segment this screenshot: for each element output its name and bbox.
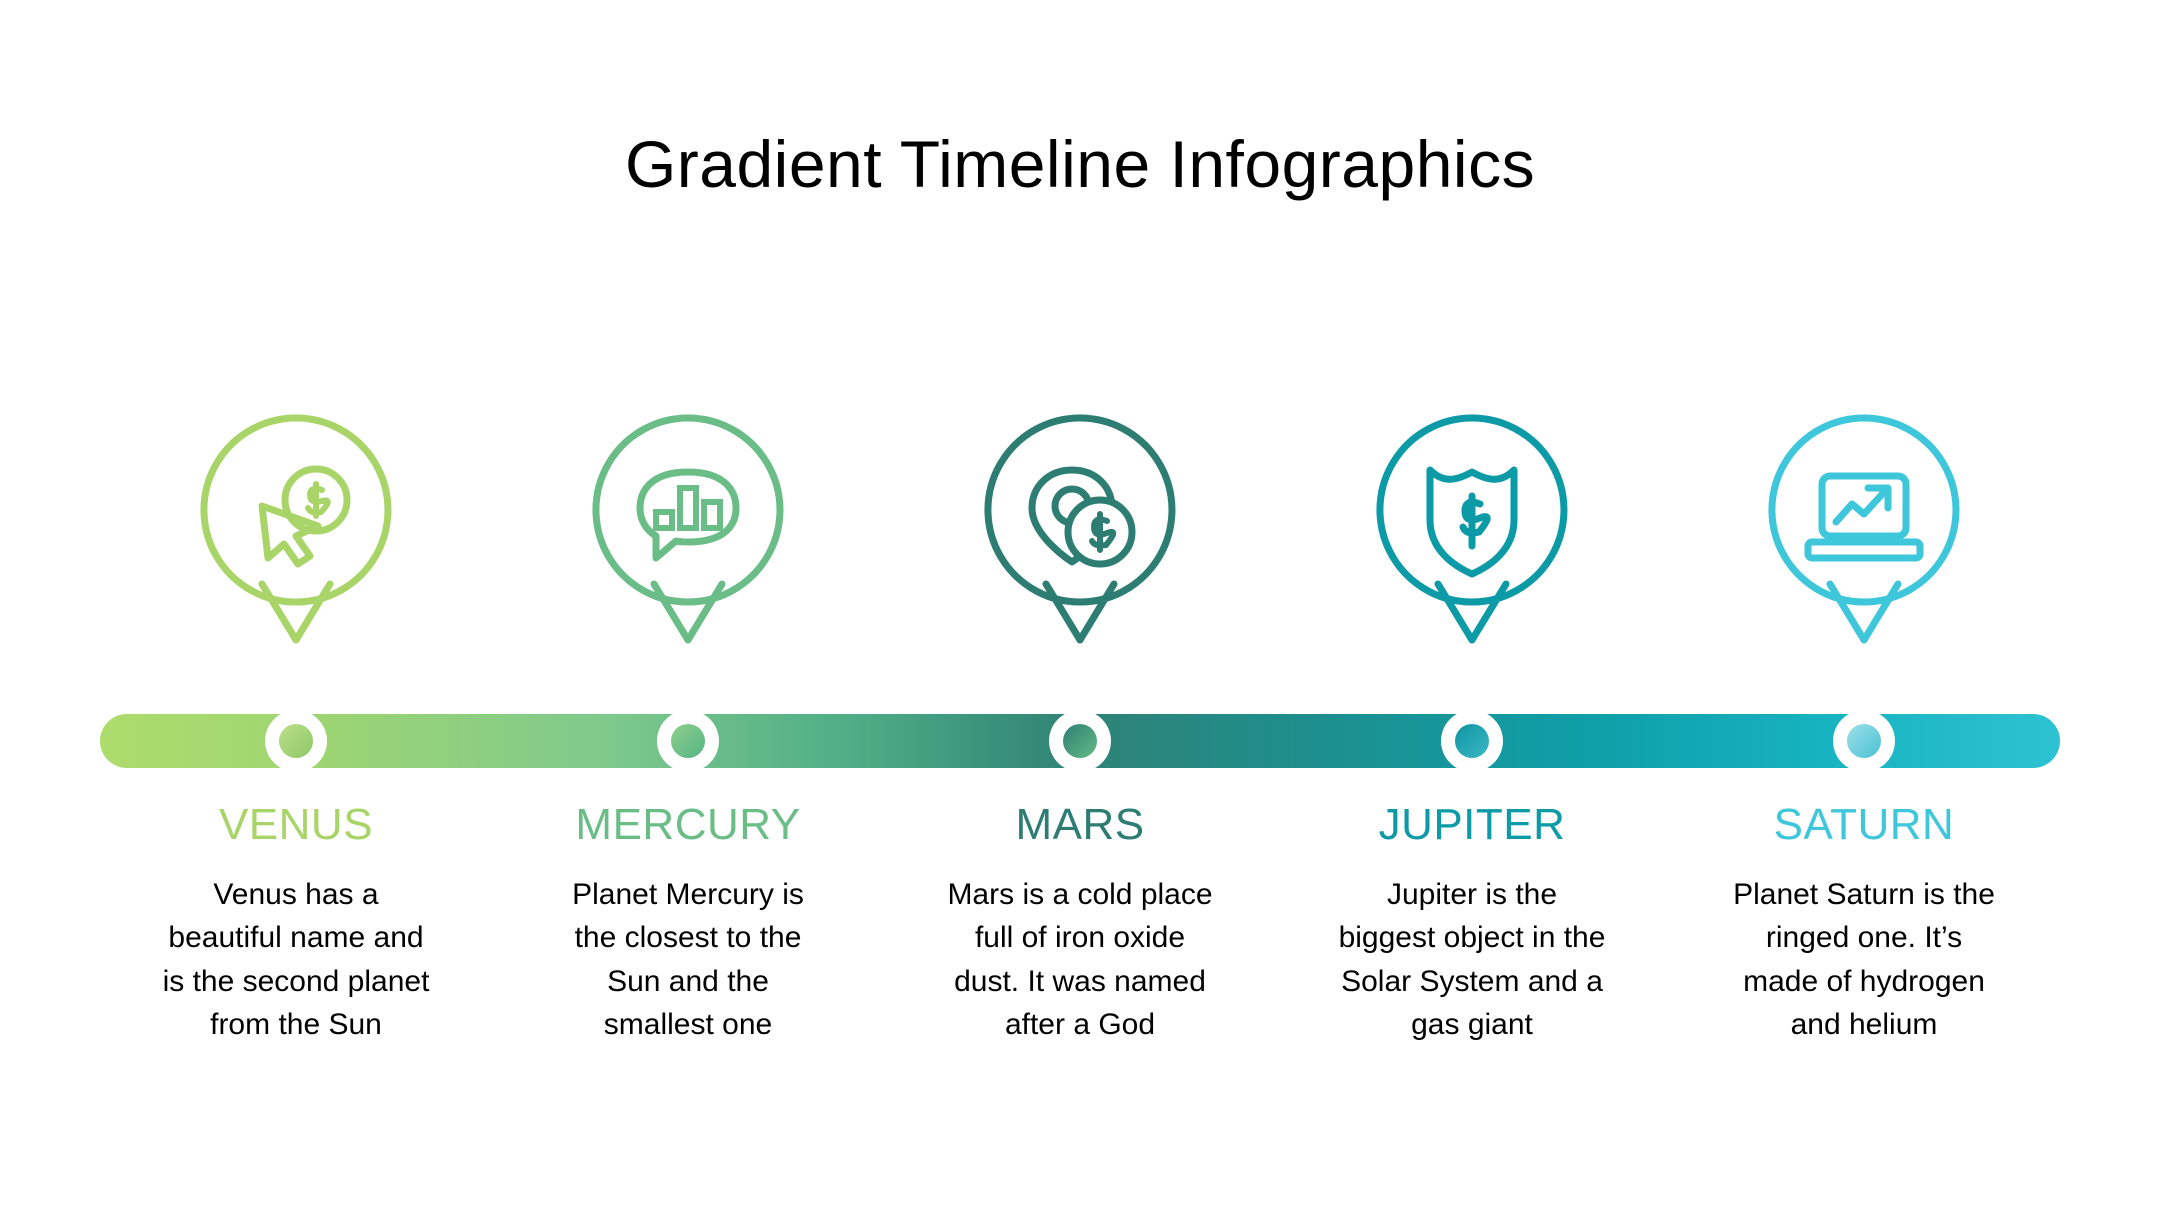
laptop-growth-chart-icon <box>1760 408 1968 652</box>
caption-mercury: MERCURY Planet Mercury is the closest to… <box>492 800 884 1047</box>
caption-title-jupiter: JUPITER <box>1290 800 1654 851</box>
timeline-marker-mercury[interactable] <box>657 710 719 772</box>
cursor-click-dollar-coin-icon <box>192 408 400 652</box>
caption-title-mars: MARS <box>898 800 1262 851</box>
caption-row: VENUS Venus has a beautiful name and is … <box>100 800 2060 1047</box>
caption-venus: VENUS Venus has a beautiful name and is … <box>100 800 492 1047</box>
caption-jupiter: JUPITER Jupiter is the biggest object in… <box>1276 800 1668 1047</box>
timeline-marker-saturn[interactable] <box>1833 710 1895 772</box>
pin-mars[interactable] <box>976 408 1184 652</box>
pin-jupiter[interactable] <box>1368 408 1576 652</box>
marker-cell-mercury <box>492 714 884 768</box>
pin-cell-mars <box>884 408 1276 678</box>
caption-mars: MARS Mars is a cold place full of iron o… <box>884 800 1276 1047</box>
caption-body-mercury: Planet Mercury is the closest to the Sun… <box>506 873 870 1047</box>
caption-title-saturn: SATURN <box>1682 800 2046 851</box>
marker-cell-venus <box>100 714 492 768</box>
caption-body-mars: Mars is a cold place full of iron oxide … <box>898 873 1262 1047</box>
marker-cell-jupiter <box>1276 714 1668 768</box>
pin-cell-saturn <box>1668 408 2060 678</box>
marker-dot-mars <box>1063 724 1097 758</box>
pin-row <box>100 408 2060 678</box>
timeline-marker-row <box>100 714 2060 768</box>
timeline-marker-venus[interactable] <box>265 710 327 772</box>
marker-dot-venus <box>279 724 313 758</box>
timeline-marker-mars[interactable] <box>1049 710 1111 772</box>
caption-saturn: SATURN Planet Saturn is the ringed one. … <box>1668 800 2060 1047</box>
shield-dollar-icon <box>1368 408 1576 652</box>
marker-dot-jupiter <box>1455 724 1489 758</box>
caption-body-jupiter: Jupiter is the biggest object in the Sol… <box>1290 873 1654 1047</box>
caption-body-venus: Venus has a beautiful name and is the se… <box>114 873 478 1047</box>
pin-mercury[interactable] <box>584 408 792 652</box>
pin-cell-mercury <box>492 408 884 678</box>
caption-title-mercury: MERCURY <box>506 800 870 851</box>
marker-dot-saturn <box>1847 724 1881 758</box>
marker-dot-mercury <box>671 724 705 758</box>
chat-bubble-bar-chart-icon <box>584 408 792 652</box>
pin-venus[interactable] <box>192 408 400 652</box>
caption-body-saturn: Planet Saturn is the ringed one. It’s ma… <box>1682 873 2046 1047</box>
marker-cell-mars <box>884 714 1276 768</box>
caption-title-venus: VENUS <box>114 800 478 851</box>
pin-cell-jupiter <box>1276 408 1668 678</box>
location-pin-dollar-coin-icon <box>976 408 1184 652</box>
pin-cell-venus <box>100 408 492 678</box>
page-title: Gradient Timeline Infographics <box>0 128 2160 201</box>
timeline-marker-jupiter[interactable] <box>1441 710 1503 772</box>
infographic-slide: Gradient Timeline Infographics <box>0 0 2160 1215</box>
marker-cell-saturn <box>1668 714 2060 768</box>
pin-saturn[interactable] <box>1760 408 1968 652</box>
